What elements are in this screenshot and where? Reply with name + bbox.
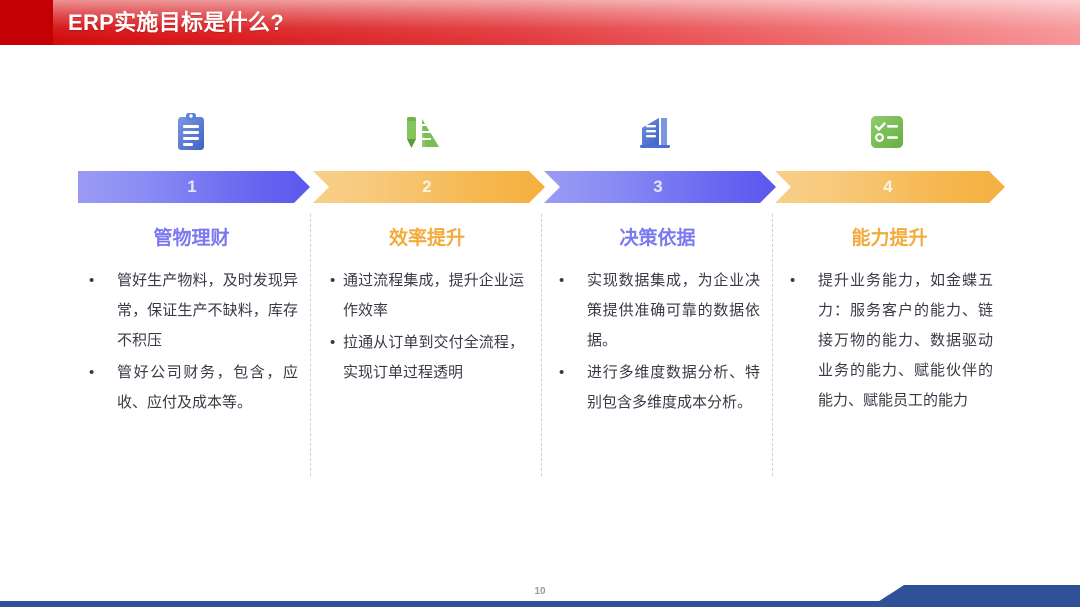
process-arrow-band: 1 2 3 4 xyxy=(0,171,1080,203)
column-heading: 能力提升 xyxy=(786,226,993,252)
column-1: 管物理财 • 管好生产物料，及时发现异常，保证生产不缺料，库存不积压 • 管好公… xyxy=(85,226,298,420)
column-divider xyxy=(541,214,542,476)
column-2: 效率提升 • 通过流程集成，提升企业运作效率 • 拉通从订单到交付全流程，实现订… xyxy=(330,226,524,390)
list-item-text: 进行多维度数据分析、特别包含多维度成本分析。 xyxy=(587,364,760,411)
list-item: • 管好生产物料，及时发现异常，保证生产不缺料，库存不积压 xyxy=(85,266,298,356)
factory-icon xyxy=(625,108,685,156)
list-item: • 管好公司财务，包含，应收、应付及成本等。 xyxy=(85,358,298,418)
list-item: • 进行多维度数据分析、特别包含多维度成本分析。 xyxy=(555,358,760,418)
column-divider xyxy=(310,214,311,476)
column-heading: 管物理财 xyxy=(85,226,298,252)
list-item-text: 提升业务能力，如金蝶五力：服务客户的能力、链接万物的能力、数据驱动业务的能力、赋… xyxy=(818,272,993,409)
header-accent-block xyxy=(0,0,53,45)
list-item-text: 管好生产物料，及时发现异常，保证生产不缺料，库存不积压 xyxy=(117,272,298,349)
step-number: 1 xyxy=(187,177,196,197)
column-bullet-list: • 通过流程集成，提升企业运作效率 • 拉通从订单到交付全流程，实现订单过程透明 xyxy=(330,266,524,388)
bullet-point-icon: • xyxy=(330,266,335,296)
slide-header: ERP实施目标是什么? xyxy=(0,0,1080,45)
process-step-4[interactable]: 4 xyxy=(775,171,1005,203)
bullet-point-icon: • xyxy=(330,328,335,358)
column-bullet-list: • 管好生产物料，及时发现异常，保证生产不缺料，库存不积压 • 管好公司财务，包… xyxy=(85,266,298,418)
process-step-2[interactable]: 2 xyxy=(313,171,545,203)
column-bullet-list: • 实现数据集成，为企业决策提供准确可靠的数据依据。 • 进行多维度数据分析、特… xyxy=(555,266,760,418)
bullet-point-icon: • xyxy=(790,266,795,296)
step-number: 3 xyxy=(653,177,662,197)
column-4: 能力提升 • 提升业务能力，如金蝶五力：服务客户的能力、链接万物的能力、数据驱动… xyxy=(786,226,993,418)
bullet-point-icon: • xyxy=(89,358,94,388)
bullet-point-icon: • xyxy=(559,266,564,296)
pencil-ruler-icon xyxy=(393,108,453,156)
clipboard-icon xyxy=(161,108,221,156)
bullet-point-icon: • xyxy=(559,358,564,388)
page-title: ERP实施目标是什么? xyxy=(68,8,284,37)
list-item: • 提升业务能力，如金蝶五力：服务客户的能力、链接万物的能力、数据驱动业务的能力… xyxy=(786,266,993,416)
step-number: 4 xyxy=(883,177,892,197)
step-number: 2 xyxy=(422,177,431,197)
bullet-point-icon: • xyxy=(89,266,94,296)
list-item-text: 管好公司财务，包含，应收、应付及成本等。 xyxy=(117,364,298,411)
list-item: • 拉通从订单到交付全流程，实现订单过程透明 xyxy=(330,328,524,388)
footer-bar xyxy=(0,601,1080,607)
process-step-1[interactable]: 1 xyxy=(78,171,310,203)
process-step-3[interactable]: 3 xyxy=(544,171,776,203)
list-item-text: 通过流程集成，提升企业运作效率 xyxy=(343,272,524,319)
list-item: • 实现数据集成，为企业决策提供准确可靠的数据依据。 xyxy=(555,266,760,356)
column-bullet-list: • 提升业务能力，如金蝶五力：服务客户的能力、链接万物的能力、数据驱动业务的能力… xyxy=(786,266,993,416)
list-item-text: 实现数据集成，为企业决策提供准确可靠的数据依据。 xyxy=(587,272,760,349)
column-heading: 效率提升 xyxy=(330,226,524,252)
column-heading: 决策依据 xyxy=(555,226,760,252)
column-divider xyxy=(772,214,773,476)
list-item: • 通过流程集成，提升企业运作效率 xyxy=(330,266,524,326)
column-3: 决策依据 • 实现数据集成，为企业决策提供准确可靠的数据依据。 • 进行多维度数… xyxy=(555,226,760,420)
list-item-text: 拉通从订单到交付全流程，实现订单过程透明 xyxy=(343,334,524,381)
checklist-icon xyxy=(857,108,917,156)
